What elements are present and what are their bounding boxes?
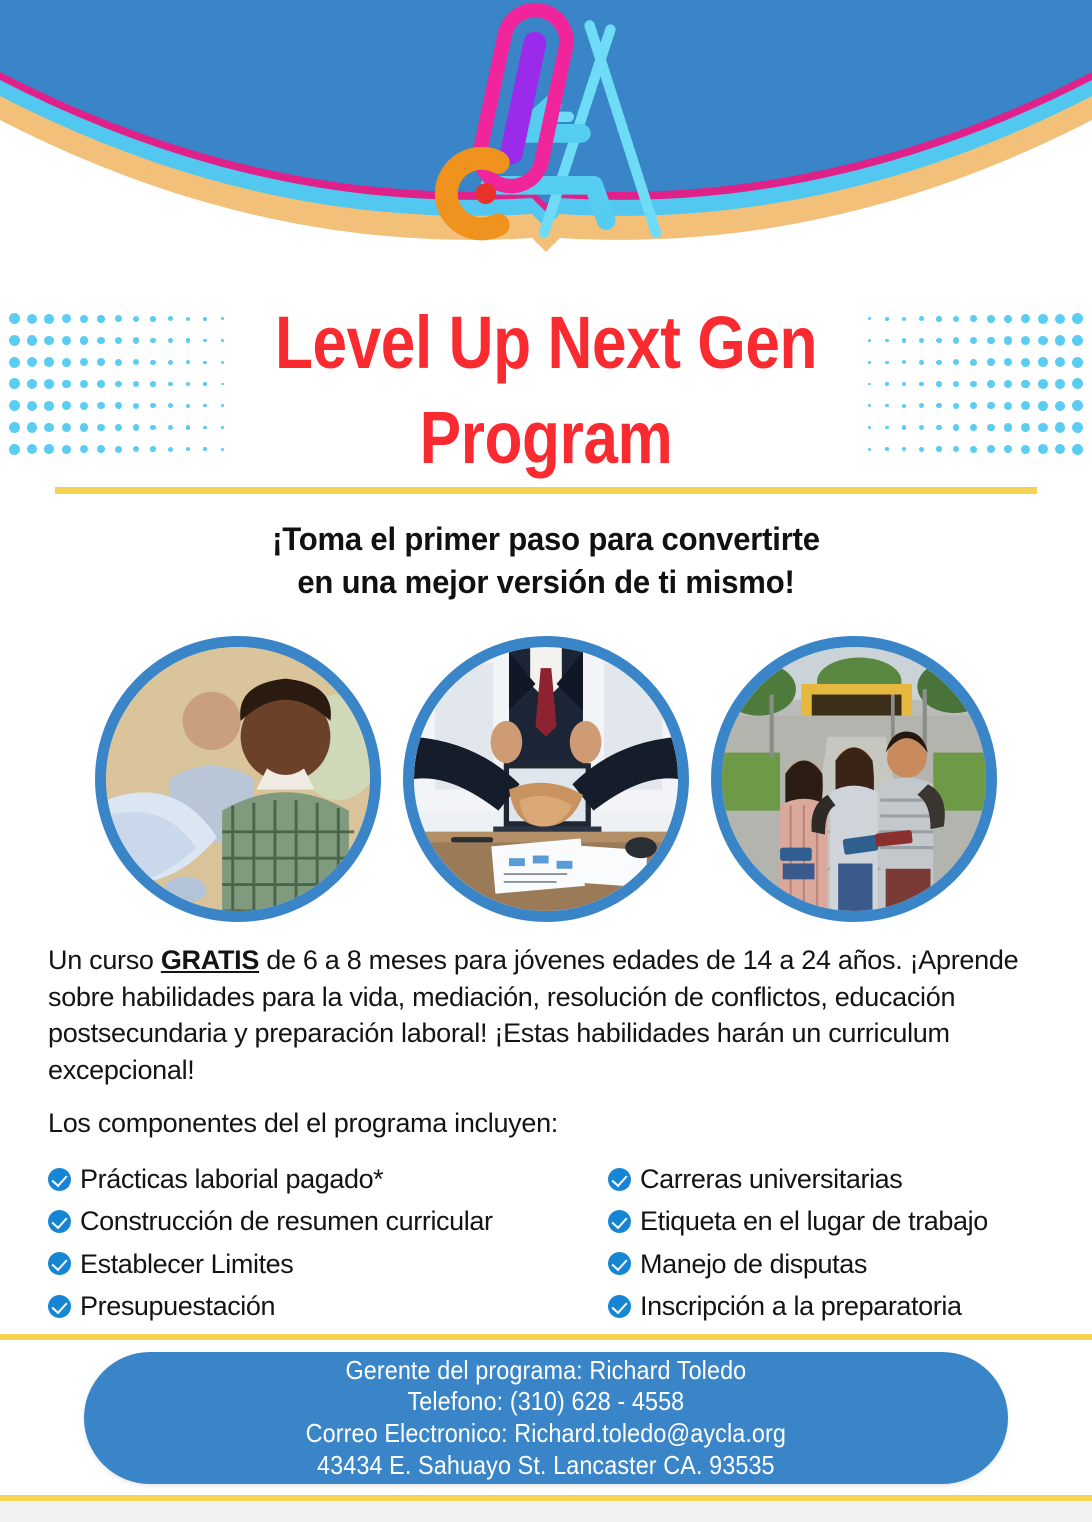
halftone-dot bbox=[1055, 314, 1065, 324]
page-title: Level Up Next Gen Program bbox=[87, 296, 1004, 485]
list-item: Establecer Limites bbox=[48, 1245, 608, 1283]
halftone-dot bbox=[27, 444, 37, 454]
halftone-dot bbox=[62, 314, 71, 323]
halftone-dot bbox=[9, 335, 20, 346]
halftone-dot bbox=[1021, 401, 1030, 410]
halftone-dot bbox=[1038, 314, 1048, 324]
halftone-dot bbox=[1055, 444, 1065, 454]
halftone-dot bbox=[9, 422, 20, 433]
halftone-dot bbox=[62, 445, 71, 454]
halftone-dot bbox=[44, 336, 54, 346]
photo-young-man-handshake bbox=[95, 636, 381, 922]
halftone-dot bbox=[44, 379, 54, 389]
halftone-dot bbox=[1055, 422, 1065, 432]
photo-inner bbox=[414, 647, 678, 911]
halftone-dot bbox=[1004, 445, 1012, 453]
halftone-dot bbox=[44, 357, 54, 367]
photo-business-handshake bbox=[403, 636, 689, 922]
halftone-dot bbox=[44, 423, 54, 433]
list-item-label: Construcción de resumen curricular bbox=[80, 1202, 493, 1240]
halftone-dot bbox=[1021, 380, 1030, 389]
halftone-dot bbox=[27, 314, 37, 324]
halftone-dot bbox=[9, 400, 20, 411]
header-arch-bands bbox=[0, 0, 1092, 270]
halftone-dot bbox=[1055, 357, 1065, 367]
halftone-dot bbox=[1072, 444, 1083, 455]
photo-art-2 bbox=[414, 647, 678, 911]
halftone-dot bbox=[1038, 444, 1048, 454]
photo-inner bbox=[106, 647, 370, 911]
halftone-dot bbox=[62, 336, 71, 345]
halftone-dot bbox=[1072, 378, 1083, 389]
halftone-dot bbox=[1021, 314, 1030, 323]
halftone-dot bbox=[44, 401, 54, 411]
photo-art-3 bbox=[722, 647, 986, 911]
title-divider bbox=[55, 487, 1037, 494]
body-prefix: Un curso bbox=[48, 945, 161, 975]
halftone-dot bbox=[1004, 380, 1012, 388]
halftone-dot bbox=[1004, 358, 1012, 366]
list-item: Manejo de disputas bbox=[608, 1245, 1058, 1283]
photo-three-students bbox=[711, 636, 997, 922]
list-item-label: Carreras universitarias bbox=[640, 1160, 902, 1198]
halftone-dot bbox=[1004, 402, 1012, 410]
halftone-dot bbox=[1072, 422, 1083, 433]
check-circle-icon bbox=[48, 1210, 71, 1233]
halftone-dot bbox=[62, 358, 71, 367]
gratis-highlight: GRATIS bbox=[161, 945, 259, 975]
halftone-dot bbox=[27, 357, 37, 367]
halftone-dot bbox=[27, 422, 37, 432]
halftone-dot bbox=[27, 379, 37, 389]
halftone-dot bbox=[1004, 315, 1012, 323]
list-item: Construcción de resumen curricular bbox=[48, 1202, 608, 1240]
halftone-dot bbox=[1021, 336, 1030, 345]
contact-banner: Gerente del programa: Richard Toledo Tel… bbox=[84, 1352, 1008, 1484]
subtitle: ¡Toma el primer paso para convertirte en… bbox=[16, 518, 1075, 603]
halftone-dot bbox=[27, 335, 37, 345]
list-item: Carreras universitarias bbox=[608, 1160, 1058, 1198]
program-description: Un curso GRATIS de 6 a 8 meses para jóve… bbox=[48, 942, 1048, 1089]
check-circle-icon bbox=[48, 1295, 71, 1318]
contact-details: Gerente del programa: Richard Toledo Tel… bbox=[306, 1355, 786, 1482]
halftone-dot bbox=[1004, 336, 1012, 344]
bottom-strip bbox=[0, 1501, 1092, 1522]
halftone-dot bbox=[62, 423, 71, 432]
photo-inner bbox=[722, 647, 986, 911]
halftone-dot bbox=[1038, 423, 1048, 433]
halftone-dot bbox=[1021, 445, 1030, 454]
list-item-label: Presupuestación bbox=[80, 1287, 275, 1325]
photo-art-1 bbox=[106, 647, 370, 911]
list-item: Inscripción a la preparatoria bbox=[608, 1287, 1058, 1325]
flyer-page: Level Up Next Gen Program ¡Toma el prime… bbox=[0, 0, 1092, 1522]
halftone-dot bbox=[27, 401, 37, 411]
components-label: Los componentes del el programa incluyen… bbox=[48, 1108, 1048, 1139]
halftone-dot bbox=[9, 444, 20, 455]
halftone-dot bbox=[1055, 335, 1065, 345]
check-circle-icon bbox=[48, 1168, 71, 1191]
check-circle-icon bbox=[48, 1252, 71, 1275]
components-column-right: Carreras universitarias Etiqueta en el l… bbox=[608, 1160, 1058, 1325]
list-item-label: Prácticas laborial pagado* bbox=[80, 1160, 383, 1198]
halftone-dot bbox=[9, 357, 20, 368]
halftone-dot bbox=[1072, 313, 1083, 324]
halftone-dot bbox=[9, 313, 20, 324]
halftone-dot bbox=[1021, 358, 1030, 367]
list-item-label: Establecer Limites bbox=[80, 1245, 293, 1283]
header-arch-banner bbox=[0, 0, 1092, 270]
photo-row bbox=[0, 636, 1092, 930]
check-circle-icon bbox=[608, 1168, 631, 1191]
halftone-dot bbox=[1021, 423, 1030, 432]
halftone-dot bbox=[1038, 401, 1048, 411]
halftone-dot bbox=[9, 378, 20, 389]
list-item-label: Inscripción a la preparatoria bbox=[640, 1287, 962, 1325]
halftone-dot bbox=[62, 380, 71, 389]
check-circle-icon bbox=[608, 1210, 631, 1233]
check-circle-icon bbox=[608, 1295, 631, 1318]
footer-divider-top bbox=[0, 1334, 1092, 1340]
list-item-label: Etiqueta en el lugar de trabajo bbox=[640, 1202, 988, 1240]
halftone-dot bbox=[1072, 400, 1083, 411]
halftone-dot bbox=[62, 401, 71, 410]
halftone-dot bbox=[1072, 335, 1083, 346]
check-circle-icon bbox=[608, 1252, 631, 1275]
halftone-dot bbox=[1055, 379, 1065, 389]
list-item: Etiqueta en el lugar de trabajo bbox=[608, 1202, 1058, 1240]
list-item: Presupuestación bbox=[48, 1287, 608, 1325]
halftone-dot bbox=[1038, 379, 1048, 389]
halftone-dot bbox=[1055, 401, 1065, 411]
halftone-dot bbox=[1038, 357, 1048, 367]
list-item: Prácticas laborial pagado* bbox=[48, 1160, 608, 1198]
halftone-dot bbox=[1004, 423, 1012, 431]
halftone-dot bbox=[1072, 357, 1083, 368]
halftone-dot bbox=[1038, 336, 1048, 346]
components-column-left: Prácticas laborial pagado* Construcción … bbox=[48, 1160, 608, 1325]
halftone-dot bbox=[44, 314, 54, 324]
list-item-label: Manejo de disputas bbox=[640, 1245, 867, 1283]
halftone-dot bbox=[44, 444, 54, 454]
components-list: Prácticas laborial pagado* Construcción … bbox=[48, 1160, 1058, 1325]
